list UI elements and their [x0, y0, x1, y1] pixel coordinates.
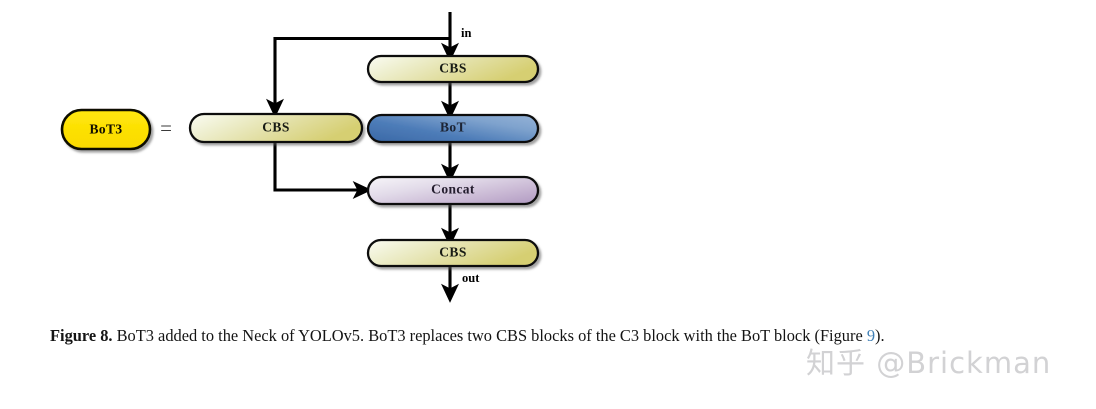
node-cbs-bottom[interactable]: CBS — [368, 240, 538, 266]
equals-sign: = — [160, 116, 172, 140]
node-concat-label: Concat — [431, 182, 475, 197]
bot3-architecture-diagram: BoT3 = CBS CBS BoT Concat CBS in out — [0, 0, 1096, 310]
figure-caption-text-1: BoT3 added to the Neck of YOLOv5. BoT3 r… — [113, 326, 867, 345]
node-cbs-branch[interactable]: CBS — [190, 114, 362, 142]
node-cbs-top[interactable]: CBS — [368, 56, 538, 82]
figure-caption-text-2: ). — [875, 326, 885, 345]
figure-8-container: BoT3 = CBS CBS BoT Concat CBS in out Fig — [0, 0, 1096, 409]
node-bot[interactable]: BoT — [368, 115, 538, 142]
figure-caption-number: Figure 8. — [50, 326, 113, 345]
node-cbs-top-label: CBS — [439, 61, 466, 76]
input-label: in — [461, 26, 471, 40]
node-concat[interactable]: Concat — [368, 177, 538, 204]
connector-left-cbs-to-concat — [275, 142, 362, 190]
node-bot3-label: BoT3 — [89, 122, 122, 137]
node-bot3[interactable]: BoT3 — [62, 110, 150, 149]
figure-caption: Figure 8. BoT3 added to the Neck of YOLO… — [50, 322, 1040, 350]
node-bot-label: BoT — [440, 120, 466, 135]
node-cbs-branch-label: CBS — [262, 120, 289, 135]
output-label: out — [462, 271, 480, 285]
node-cbs-bottom-label: CBS — [439, 245, 466, 260]
figure-caption-cross-reference[interactable]: 9 — [867, 326, 875, 345]
